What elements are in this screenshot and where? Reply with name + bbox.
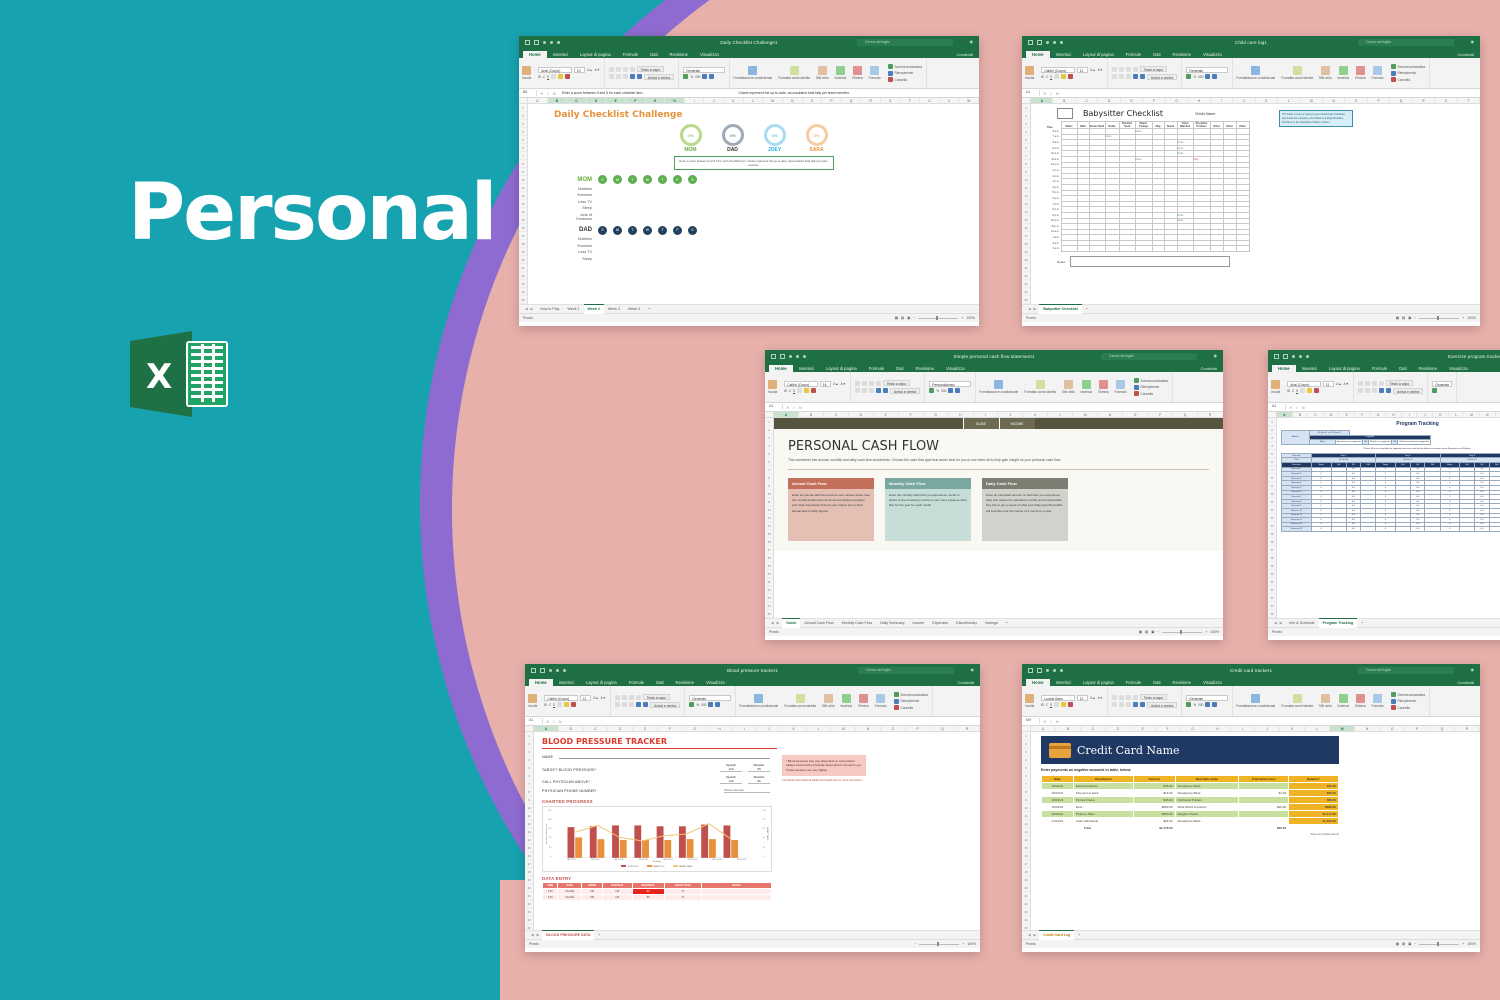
zoom-level[interactable]: 100%	[966, 316, 975, 320]
col-L[interactable]: L	[1305, 726, 1330, 731]
formula-bar[interactable]: A1 ✕ ✓ fx	[1022, 89, 1480, 98]
col-A[interactable]: A	[1277, 412, 1293, 417]
number-format-select[interactable]: Personalizzato	[929, 381, 971, 387]
col-N[interactable]: N	[783, 98, 803, 103]
tab-nav-prev[interactable]: ◀	[525, 307, 528, 311]
delete-cells-icon[interactable]	[1099, 380, 1108, 389]
zoom-slider[interactable]	[918, 318, 958, 319]
col-Q[interactable]: Q	[1430, 726, 1455, 731]
comma-icon[interactable]: 000	[695, 75, 700, 79]
function-icon[interactable]: fx	[553, 91, 556, 96]
enter-icon[interactable]: ✓	[792, 405, 795, 410]
sheet-tab-week2[interactable]: Week 2	[584, 304, 604, 314]
tab-inserisci[interactable]: Inserisci	[553, 679, 580, 687]
tab-layout[interactable]: Layout di pagina	[574, 51, 617, 59]
sheet-content[interactable]: BLOOD PRESSURE TRACKER NAME TARGET BLOOD…	[534, 732, 980, 930]
cell-styles-group[interactable]: Stili cella	[1059, 372, 1078, 402]
clear-icon[interactable]	[1134, 391, 1139, 396]
currency-icon[interactable]	[689, 702, 694, 707]
autosum-icon[interactable]	[888, 64, 893, 69]
view-normal-icon[interactable]: ▦	[895, 316, 898, 320]
col-R[interactable]: R	[1198, 412, 1223, 417]
font-size-box[interactable]: 11	[1323, 381, 1334, 387]
zoom-level[interactable]: 100%	[1467, 942, 1476, 946]
zoom-slider[interactable]	[1419, 318, 1459, 319]
col-M[interactable]: M	[1073, 412, 1098, 417]
underline-icon[interactable]: S	[547, 75, 549, 79]
search-box[interactable]: Cerca nel foglio	[1358, 39, 1454, 46]
cell-styles-group[interactable]: Stili cella	[813, 58, 832, 88]
zoom-control[interactable]: ▦ ▤ ▣ − + 100%	[1396, 942, 1476, 946]
align-top-icon[interactable]	[1112, 695, 1117, 700]
formula-actions[interactable]: ✕ ✓ fx	[540, 91, 556, 96]
editing-group[interactable]: Somma automatica Riempimento Cancella	[1130, 372, 1173, 402]
col-D[interactable]: D	[608, 726, 633, 731]
clear-icon[interactable]	[1391, 77, 1396, 82]
format-as-table-icon[interactable]	[1293, 66, 1302, 75]
insert-cells-icon[interactable]	[836, 66, 845, 75]
underline-icon[interactable]: S	[1296, 389, 1298, 393]
col-E[interactable]: E	[874, 412, 899, 417]
col-L[interactable]: L	[1048, 412, 1073, 417]
redo-icon[interactable]	[1299, 355, 1302, 358]
col-F[interactable]: F	[1156, 726, 1181, 731]
view-break-icon[interactable]: ▣	[1408, 316, 1411, 320]
col-B[interactable]: B	[559, 726, 584, 731]
bold-icon[interactable]: G	[784, 389, 786, 393]
col-P[interactable]: P	[906, 726, 931, 731]
fill-color-icon[interactable]	[804, 388, 809, 393]
format-as-table-group[interactable]: Formatta come tabella	[775, 58, 813, 88]
font-group[interactable]: Arial (Corpo) 10 A▲ A▼ G C S	[534, 58, 605, 88]
zoom-slider[interactable]	[919, 944, 959, 945]
col-K[interactable]: K	[782, 726, 807, 731]
tab-dati[interactable]: Dati	[1147, 51, 1166, 59]
conditional-formatting-group[interactable]: Formattazione condizionale	[976, 372, 1021, 402]
target-systolic-value[interactable]: 120	[720, 767, 742, 772]
format-cells-group[interactable]: Formato	[872, 686, 890, 716]
enter-icon[interactable]: ✓	[1049, 91, 1052, 96]
col-O[interactable]: O	[1496, 412, 1500, 417]
align-center-icon[interactable]	[616, 74, 621, 79]
fill-color-icon[interactable]	[1307, 388, 1312, 393]
cell-styles-icon[interactable]	[1064, 380, 1073, 389]
tab-nav-prev[interactable]: ◀	[1028, 307, 1031, 311]
paste-icon[interactable]	[1025, 66, 1034, 75]
font-name-box[interactable]: Calibri (Corpo)	[1041, 67, 1075, 73]
align-center-icon[interactable]	[622, 702, 627, 707]
align-right-icon[interactable]	[869, 388, 874, 393]
col-J[interactable]: J	[998, 412, 1023, 417]
align-bottom-icon[interactable]	[1126, 695, 1131, 700]
col-D[interactable]: D	[1098, 98, 1120, 103]
tab-home[interactable]: Home	[1026, 679, 1050, 687]
number-group[interactable]: Generale % 000	[1182, 58, 1233, 88]
col-F[interactable]: F	[1143, 98, 1165, 103]
increase-indent-icon[interactable]	[637, 74, 642, 79]
col-I[interactable]: I	[974, 412, 999, 417]
cancel-icon[interactable]: ✕	[546, 719, 549, 724]
font-group[interactable]: Calibri (Corpo) 11 A▲ A▼ G C S	[1037, 58, 1108, 88]
paste-group[interactable]: Incolla	[1022, 58, 1037, 88]
col-C[interactable]: C	[1308, 412, 1324, 417]
increase-decimal-icon[interactable]	[948, 388, 953, 393]
borders-icon[interactable]	[1054, 702, 1059, 707]
align-top-icon[interactable]	[855, 381, 860, 386]
cancel-icon[interactable]: ✕	[540, 91, 543, 96]
number-group[interactable]: Generale % 000	[1182, 686, 1233, 716]
data-entry-table[interactable]: TIME DATE AM/PM SYSTOLIC DIASTOLIC HEART…	[542, 882, 772, 901]
delete-cells-icon[interactable]	[859, 694, 868, 703]
bold-icon[interactable]: G	[1041, 703, 1043, 707]
col-I[interactable]: I	[732, 726, 757, 731]
sheet-tab-week3[interactable]: Week 3	[604, 305, 624, 314]
increase-indent-icon[interactable]	[1140, 74, 1145, 79]
col-A[interactable]: A	[774, 412, 799, 417]
zoom-in-button[interactable]: +	[1462, 316, 1464, 320]
view-layout-icon[interactable]: ▤	[1402, 316, 1405, 320]
search-box[interactable]: Cerca nel foglio	[1101, 353, 1197, 360]
merge-center-button[interactable]: Unisci e centra	[650, 702, 680, 708]
search-box[interactable]: Cerca nel foglio	[857, 39, 953, 46]
formula-actions[interactable]: ✕ ✓ fx	[1043, 91, 1059, 96]
delete-cells-icon[interactable]	[853, 66, 862, 75]
increase-font-icon[interactable]: A▲	[593, 696, 598, 700]
sheet-tab-blood-pressure-data[interactable]: BLOOD PRESSURE DATA	[542, 930, 594, 940]
ribbon[interactable]: Incolla Calibri (Corpo) 11 A▲ A▼ G C S	[525, 686, 980, 717]
italic-icon[interactable]: C	[1292, 389, 1294, 393]
zoom-out-button[interactable]: −	[913, 316, 915, 320]
orientation-icon[interactable]	[1379, 381, 1384, 386]
alignment-group[interactable]: Testo a capo Unisci e centra	[1108, 686, 1182, 716]
conditional-formatting-icon[interactable]	[994, 380, 1003, 389]
align-bottom-icon[interactable]	[1126, 67, 1131, 72]
alignment-group[interactable]: Testo a capo Unisci e centra	[1108, 58, 1182, 88]
col-K[interactable]: K	[1256, 98, 1278, 103]
card-daily-cash-flow[interactable]: Daily Cash Flow Enter an estimated amoun…	[982, 478, 1068, 541]
tab-nav-next[interactable]: ▶	[531, 307, 534, 311]
credit-card-table[interactable]: Date Description Amount Merchant name Tr…	[1041, 775, 1339, 832]
sheet-tab-info-schedule[interactable]: Info & Schedule	[1285, 619, 1318, 628]
paste-icon[interactable]	[768, 380, 777, 389]
paste-group[interactable]: Incolla	[1022, 686, 1037, 716]
increase-indent-icon[interactable]	[1386, 388, 1391, 393]
col-H[interactable]: H	[665, 98, 685, 103]
worksheet[interactable]: 12345678 9101112131415 16171819202122 23…	[519, 104, 979, 304]
nav-guide-button[interactable]: GUIDE	[963, 418, 999, 429]
font-color-icon[interactable]	[565, 74, 570, 79]
tab-home[interactable]: Home	[529, 679, 553, 687]
italic-icon[interactable]: C	[789, 389, 791, 393]
format-as-table-icon[interactable]	[796, 694, 805, 703]
ribbon[interactable]: Incolla Arial (Corpo) 11 A▲ A▼ G C S	[1268, 372, 1500, 403]
delete-cells-group[interactable]: Elimina	[1352, 686, 1368, 716]
col-A[interactable]: A	[528, 98, 548, 103]
ribbon-tabs[interactable]: Home Inserisci Layout di pagina Formule …	[1022, 677, 1480, 686]
search-box[interactable]: Cerca nel foglio	[1358, 667, 1454, 674]
insert-cells-group[interactable]: Inserisci	[1078, 372, 1096, 402]
number-group[interactable]: Generale % 000	[679, 58, 730, 88]
font-group[interactable]: Calibri (Corpo) 16 A▲ A▼ G C S	[780, 372, 851, 402]
align-bottom-icon[interactable]	[623, 67, 628, 72]
col-C[interactable]: C	[567, 98, 587, 103]
col-L[interactable]: L	[1278, 98, 1300, 103]
align-top-icon[interactable]	[1358, 381, 1363, 386]
name-box[interactable]: A1	[529, 718, 543, 724]
autosum-icon[interactable]	[894, 692, 899, 697]
align-center-icon[interactable]	[1119, 74, 1124, 79]
card-monthly-cash-flow[interactable]: Monthly Cash Flow Enter the monthly cash…	[885, 478, 971, 541]
account-icon[interactable]: ◉	[1471, 39, 1475, 44]
number-format-select[interactable]: Generale	[683, 67, 725, 73]
paste-icon[interactable]	[522, 66, 531, 75]
notes-input[interactable]	[1070, 256, 1230, 267]
currency-icon[interactable]	[929, 388, 934, 393]
tab-layout[interactable]: Layout di pagina	[1323, 365, 1366, 373]
col-S[interactable]: S	[1435, 98, 1457, 103]
col-K[interactable]: K	[1023, 412, 1048, 417]
zoom-in-button[interactable]: +	[1205, 630, 1207, 634]
orientation-icon[interactable]	[876, 381, 881, 386]
col-H[interactable]: H	[1206, 726, 1231, 731]
number-group[interactable]: Generale % 000	[685, 686, 736, 716]
format-cells-icon[interactable]	[1373, 66, 1382, 75]
col-J[interactable]: J	[1417, 412, 1433, 417]
format-as-table-icon[interactable]	[1293, 694, 1302, 703]
orientation-icon[interactable]	[1133, 67, 1138, 72]
tab-revisione[interactable]: Revisione	[1413, 365, 1443, 373]
sheet-tab-week1[interactable]: Week 1	[563, 305, 583, 314]
sheet-content[interactable]: Program Tracking Model # 01-Jan-21 to 28…	[1277, 418, 1500, 618]
col-O[interactable]: O	[803, 98, 823, 103]
share-button[interactable]: Condividi	[1201, 366, 1217, 371]
align-right-icon[interactable]	[623, 74, 628, 79]
col-D[interactable]: D	[849, 412, 874, 417]
tab-visualizza[interactable]: Visualizza	[1197, 51, 1228, 59]
name-box[interactable]: A1	[769, 404, 783, 410]
col-G[interactable]: G	[1371, 412, 1387, 417]
tab-formule[interactable]: Formule	[863, 365, 890, 373]
align-left-icon[interactable]	[615, 702, 620, 707]
col-N[interactable]: N	[1098, 412, 1123, 417]
merge-center-button[interactable]: Unisci e centra	[1147, 702, 1177, 708]
percent-icon[interactable]: %	[690, 75, 693, 79]
sheet-content[interactable]: Credit Card Name Enter payments as negat…	[1031, 732, 1480, 930]
align-left-icon[interactable]	[609, 74, 614, 79]
insert-cells-group[interactable]: Inserisci	[838, 686, 856, 716]
col-F[interactable]: F	[626, 98, 646, 103]
col-C[interactable]: C	[584, 726, 609, 731]
tab-visualizza[interactable]: Visualizza	[694, 51, 725, 59]
share-button[interactable]: Condividi	[957, 52, 973, 57]
col-D[interactable]: D	[1106, 726, 1131, 731]
function-icon[interactable]: fx	[1302, 405, 1305, 410]
delete-cells-group[interactable]: Elimina	[849, 58, 865, 88]
col-E[interactable]: E	[1131, 726, 1156, 731]
editing-group[interactable]: Somma automatica Riempimento Cancella	[884, 58, 927, 88]
sheet-tab-monthly-cash-flow[interactable]: Monthly Cash Flow	[838, 619, 877, 628]
tab-nav-prev[interactable]: ◀	[531, 933, 534, 937]
zoom-control[interactable]: − + 100%	[914, 942, 976, 946]
number-format-select[interactable]: Generale	[1186, 67, 1228, 73]
sheet-tab-bar[interactable]: ◀ ▶ Info & Schedule Program Tracking +	[1268, 618, 1500, 627]
tab-visualizza[interactable]: Visualizza	[700, 679, 731, 687]
sheet-tab-expenses[interactable]: Expenses	[928, 619, 952, 628]
name-box[interactable]: A1	[1272, 404, 1286, 410]
font-group[interactable]: Arial (Corpo) 11 A▲ A▼ G C S	[1283, 372, 1354, 402]
percent-icon[interactable]: %	[1193, 703, 1196, 707]
percent-icon[interactable]: %	[936, 389, 939, 393]
ribbon[interactable]: Incolla Lucida Sans 11 A▲ A▼ G C S	[1022, 686, 1480, 717]
align-bottom-icon[interactable]	[629, 695, 634, 700]
col-Q[interactable]: Q	[842, 98, 862, 103]
format-as-table-icon[interactable]	[790, 66, 799, 75]
tab-nav-prev[interactable]: ◀	[1028, 933, 1031, 937]
ribbon-tabs[interactable]: Home Inserisci Layout di pagina Formule …	[519, 49, 979, 58]
merge-center-button[interactable]: Unisci e centra	[1147, 74, 1177, 80]
nav-band[interactable]: GUIDE INCOME	[774, 418, 1223, 429]
tab-nav-prev[interactable]: ◀	[771, 621, 774, 625]
col-O[interactable]: O	[1380, 726, 1405, 731]
save-icon[interactable]	[1274, 354, 1279, 359]
ribbon[interactable]: Incolla Arial (Corpo) 10 A▲ A▼ G C S	[519, 58, 979, 89]
wrap-text-button[interactable]: Testo a capo	[643, 694, 670, 700]
col-H[interactable]: H	[1188, 98, 1210, 103]
align-center-icon[interactable]	[862, 388, 867, 393]
decrease-indent-icon[interactable]	[636, 702, 641, 707]
name-box[interactable]: A1	[1026, 90, 1040, 96]
font-size-box[interactable]: 11	[1077, 67, 1088, 73]
call-systolic-value[interactable]: 140	[720, 779, 742, 784]
align-middle-icon[interactable]	[622, 695, 627, 700]
font-size-box[interactable]: 11	[580, 695, 591, 701]
fill-color-icon[interactable]	[1061, 74, 1066, 79]
col-E[interactable]: E	[1121, 98, 1143, 103]
col-B[interactable]: B	[1053, 98, 1075, 103]
sheet-tab-credit-card-log[interactable]: Credit Card Log	[1039, 930, 1074, 940]
sheet-content[interactable]: Babysitter Checklist Child's Name: TIP: …	[1031, 104, 1480, 304]
sheet-tab-program-tracking[interactable]: Program Tracking	[1319, 618, 1358, 628]
format-cells-group[interactable]: Formato	[866, 58, 884, 88]
account-icon[interactable]: ◉	[1471, 667, 1475, 672]
tab-revisione[interactable]: Revisione	[1167, 51, 1197, 59]
col-Q[interactable]: Q	[1390, 98, 1412, 103]
col-I[interactable]: I	[1211, 98, 1233, 103]
bold-icon[interactable]: G	[544, 703, 546, 707]
align-top-icon[interactable]	[1112, 67, 1117, 72]
function-icon[interactable]: fx	[799, 405, 802, 410]
cancel-icon[interactable]: ✕	[786, 405, 789, 410]
borders-icon[interactable]	[557, 702, 562, 707]
view-normal-icon[interactable]: ▦	[1396, 316, 1399, 320]
row-headers[interactable]: 12345678 9101112131415 16171819202122 23…	[525, 732, 534, 930]
fill-icon[interactable]	[1134, 385, 1139, 390]
font-name-box[interactable]: Calibri (Corpo)	[784, 381, 818, 387]
tab-revisione[interactable]: Revisione	[910, 365, 940, 373]
ribbon-tabs[interactable]: Home Inserisci Layout di pagina Formule …	[1268, 363, 1500, 372]
decrease-font-icon[interactable]: A▼	[1098, 68, 1103, 72]
tab-dati[interactable]: Dati	[1147, 679, 1166, 687]
col-F[interactable]: F	[899, 412, 924, 417]
tab-dati[interactable]: Dati	[1393, 365, 1412, 373]
tab-inserisci[interactable]: Inserisci	[1050, 679, 1077, 687]
zoom-in-button[interactable]: +	[962, 942, 964, 946]
sheet-tab-savings[interactable]: Savings	[981, 619, 1002, 628]
number-format-select[interactable]: Generale	[1432, 381, 1452, 387]
underline-icon[interactable]: S	[793, 389, 795, 393]
fill-icon[interactable]	[894, 699, 899, 704]
align-bottom-icon[interactable]	[1372, 381, 1377, 386]
format-cells-group[interactable]: Formato	[1369, 58, 1387, 88]
window-child-care[interactable]: Child care log1 Cerca nel foglio ◉ Home …	[1022, 36, 1480, 326]
formula-input-left[interactable]: Enter a score between 0 and 5 for each c…	[562, 91, 644, 95]
format-as-table-group[interactable]: Formatta come tabella	[1278, 686, 1316, 716]
nav-income-button[interactable]: INCOME	[999, 418, 1035, 429]
paste-group[interactable]: Incolla	[525, 686, 540, 716]
col-balance[interactable]: Balance*	[1289, 776, 1339, 783]
comma-icon[interactable]: 000	[1198, 75, 1203, 79]
col-E[interactable]: E	[633, 726, 658, 731]
bold-icon[interactable]: G	[1287, 389, 1289, 393]
align-right-icon[interactable]	[1372, 388, 1377, 393]
col-J[interactable]: J	[1255, 726, 1280, 731]
card-annual-cash-flow[interactable]: Annual Cash Flow Enter an annual cash fl…	[788, 478, 874, 541]
decrease-font-icon[interactable]: A▼	[601, 696, 606, 700]
sheet-tab-discretionary[interactable]: Discretionary	[952, 619, 981, 628]
add-sheet-button[interactable]: +	[1002, 619, 1012, 628]
decrease-indent-icon[interactable]	[630, 74, 635, 79]
format-cells-icon[interactable]	[876, 694, 885, 703]
zoom-in-button[interactable]: +	[1462, 942, 1464, 946]
view-layout-icon[interactable]: ▤	[1402, 942, 1405, 946]
borders-icon[interactable]	[797, 388, 802, 393]
zoom-control[interactable]: ▦ ▤ ▣ − + 100%	[895, 316, 975, 320]
zoom-out-button[interactable]: −	[914, 942, 916, 946]
col-G[interactable]: G	[1181, 726, 1206, 731]
formula-bar[interactable]: A1 ✕ ✓ fx	[525, 717, 980, 726]
align-middle-icon[interactable]	[862, 381, 867, 386]
alignment-group[interactable]: Testo a capo Unisci e centra	[605, 58, 679, 88]
increase-indent-icon[interactable]	[643, 702, 648, 707]
tab-inserisci[interactable]: Inserisci	[547, 51, 574, 59]
conditional-formatting-icon[interactable]	[754, 694, 763, 703]
col-J[interactable]: J	[1233, 98, 1255, 103]
col-I[interactable]: I	[685, 98, 705, 103]
font-name-box[interactable]: Calibri (Corpo)	[544, 695, 578, 701]
col-E[interactable]: E	[1339, 412, 1355, 417]
col-G[interactable]: G	[683, 726, 708, 731]
col-P[interactable]: P	[1405, 726, 1430, 731]
share-button[interactable]: Condividi	[958, 680, 974, 685]
enter-icon[interactable]: ✓	[552, 719, 555, 724]
col-L[interactable]: L	[744, 98, 764, 103]
decrease-font-icon[interactable]: A▼	[841, 382, 846, 386]
col-H[interactable]: H	[949, 412, 974, 417]
paste-group[interactable]: Incolla	[765, 372, 780, 402]
cash-flow-cards[interactable]: Annual Cash Flow Enter an annual cash fl…	[788, 478, 1209, 541]
fill-icon[interactable]	[1391, 699, 1396, 704]
col-I[interactable]: I	[1231, 726, 1256, 731]
cell-styles-icon[interactable]	[818, 66, 827, 75]
col-E[interactable]: E	[606, 98, 626, 103]
number-format-select[interactable]: Generale	[689, 695, 731, 701]
view-break-icon[interactable]: ▣	[907, 316, 910, 320]
target-diastolic-value[interactable]: 80	[748, 767, 770, 772]
col-S[interactable]: S	[881, 98, 901, 103]
window-program-tracking[interactable]: Exercise program tracker1 Home Inserisci…	[1268, 350, 1500, 640]
formula-bar[interactable]: B6 ✕ ✓ fx Enter a score between 0 and 5 …	[519, 89, 979, 98]
insert-cells-icon[interactable]	[1339, 694, 1348, 703]
